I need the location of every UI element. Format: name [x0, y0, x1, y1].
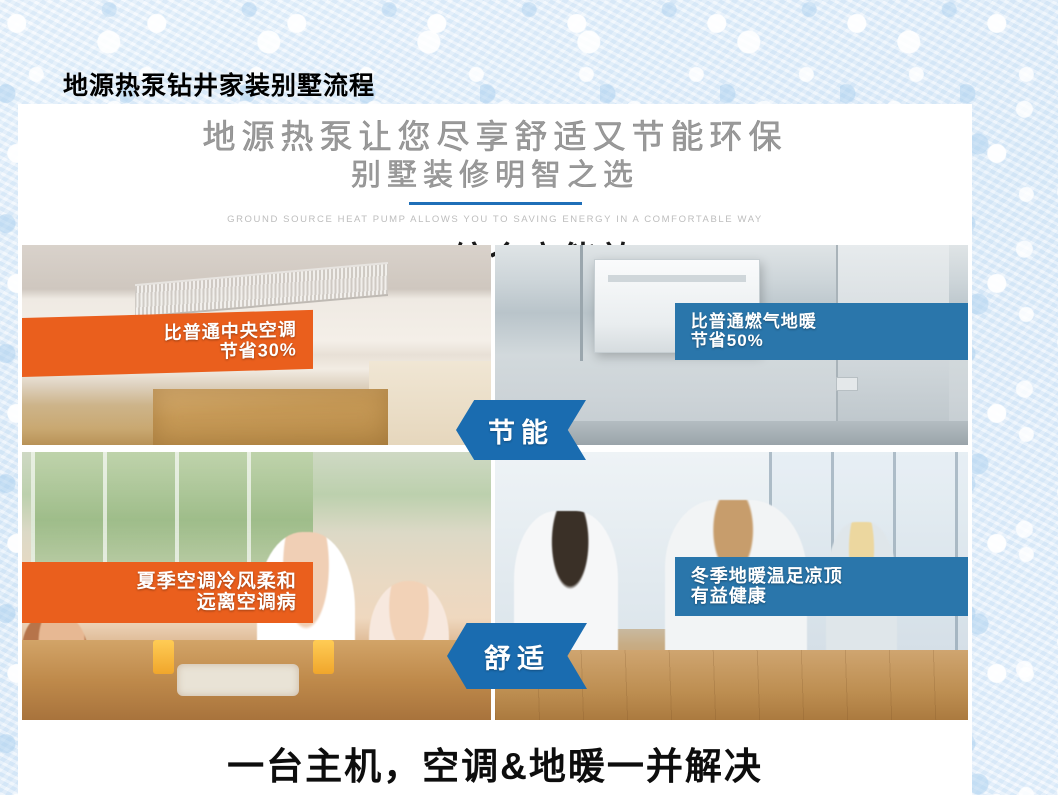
page-title: 地源热泵钻井家装别墅流程 [63, 66, 375, 102]
callout-top-right-line1: 比普通燃气地暖 [691, 312, 952, 331]
wood-panel-shape [153, 389, 388, 445]
poster-headline-line1: 地源热泵让您尽享舒适又节能环保 [18, 118, 972, 156]
photo-ceiling-air-conditioner: 比普通中央空调 节省30% [22, 245, 491, 445]
pipe-shape [580, 245, 583, 361]
callout-top-right: 比普通燃气地暖 节省50% [675, 303, 968, 360]
callout-bottom-right-line2: 有益健康 [691, 586, 952, 606]
juice-glass-shape-2 [313, 640, 334, 675]
photo-family-breakfast: 夏季空调冷风柔和 远离空调病 [22, 452, 491, 720]
header-divider-rule [409, 202, 582, 205]
callout-bottom-left-line1: 夏季空调冷风柔和 [38, 571, 297, 592]
callout-bottom-right: 冬季地暖温足凉顶 有益健康 [675, 557, 968, 616]
air-vent-shape [135, 262, 388, 318]
callout-bottom-right-line1: 冬季地暖温足凉顶 [691, 566, 952, 586]
presentation-slide: 地源热泵钻井家装别墅流程 地源热泵让您尽享舒适又节能环保 别墅装修明智之选 GR… [0, 0, 1058, 795]
callout-top-right-line2: 节省50% [691, 331, 952, 350]
poster-footer-caption: 一台主机，空调&地暖一并解决 [18, 736, 972, 790]
poster-headline-line2: 别墅装修明智之选 [18, 158, 972, 194]
wall-socket-shape [836, 377, 858, 391]
badge-energy-saving: 节能 [456, 400, 586, 460]
badge-comfort: 舒适 [447, 623, 587, 689]
poster-image-panel[interactable]: 地源热泵让您尽享舒适又节能环保 别墅装修明智之选 GROUND SOURCE H… [18, 104, 972, 795]
callout-bottom-left-line2: 远离空调病 [38, 592, 297, 613]
poster-english-subtitle: GROUND SOURCE HEAT PUMP ALLOWS YOU TO SA… [18, 214, 972, 225]
callout-top-left: 比普通中央空调 节省30% [22, 310, 313, 377]
poster-photo-grid: 比普通中央空调 节省30% 比普通燃气地暖 节省50% [22, 245, 968, 720]
callout-bottom-left: 夏季空调冷风柔和 远离空调病 [22, 562, 313, 624]
juice-glass-shape-1 [153, 640, 174, 675]
food-tray-shape [177, 664, 299, 696]
